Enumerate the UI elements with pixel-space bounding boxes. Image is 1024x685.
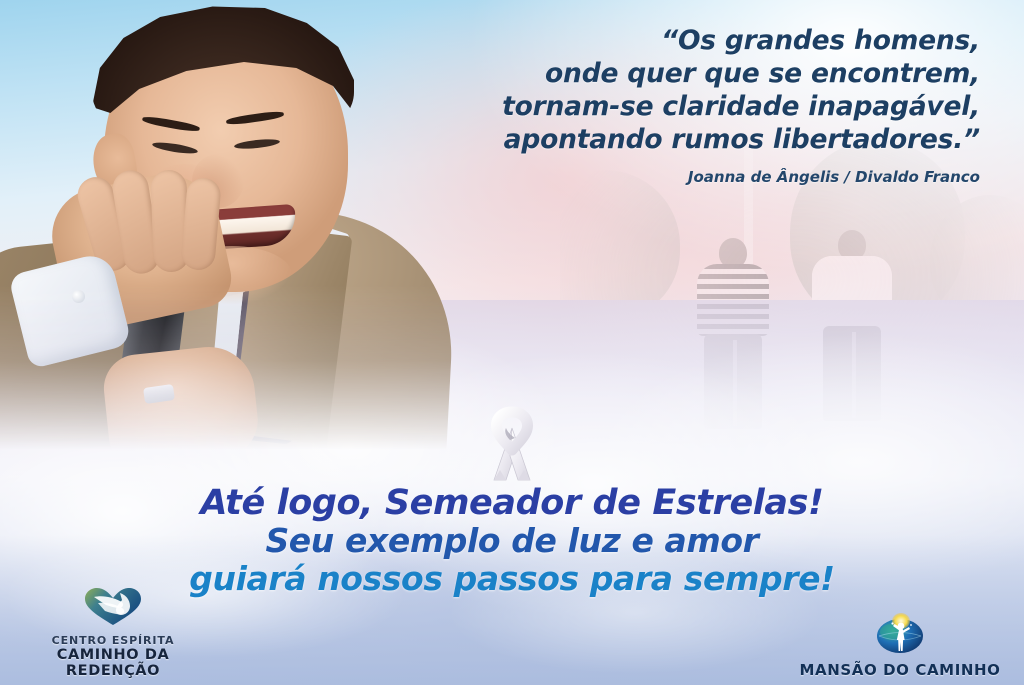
headline-line-1: Até logo, Semeador de Estrelas! — [0, 484, 1024, 522]
hand-holding-microphone — [101, 342, 262, 469]
quote-attribution: Joanna de Ângelis / Divaldo Franco — [360, 168, 980, 186]
logo-mansao-do-caminho: MANSÃO DO CAMINHO — [790, 613, 1010, 679]
quote-line-4: apontando rumos libertadores.” — [360, 123, 980, 156]
quote-text: “Os grandes homens, onde quer que se enc… — [360, 24, 980, 156]
headline-text: Até logo, Semeador de Estrelas! Seu exem… — [0, 484, 1024, 598]
headline-line-2: Seu exemplo de luz e amor — [0, 522, 1024, 560]
white-mourning-ribbon-icon — [482, 406, 542, 484]
globe-torch-bearer-logo-icon — [790, 613, 1010, 659]
cuff-button — [72, 290, 85, 303]
quote-line-3: tornam-se claridade inapagável, — [360, 90, 980, 123]
quote-line-1: “Os grandes homens, — [360, 24, 980, 57]
quote-line-2: onde quer que se encontrem, — [360, 57, 980, 90]
heart-hands-logo-icon — [18, 587, 208, 631]
logo-centro-espirita: CENTRO ESPÍRITA CAMINHO DA REDENÇÃO — [18, 587, 208, 679]
memorial-poster: “Os grandes homens, onde quer que se enc… — [0, 0, 1024, 685]
logo-left-line2: CAMINHO DA REDENÇÃO — [18, 647, 208, 679]
logo-left-line1: CENTRO ESPÍRITA — [18, 634, 208, 647]
logo-right-line1: MANSÃO DO CAMINHO — [790, 662, 1010, 679]
